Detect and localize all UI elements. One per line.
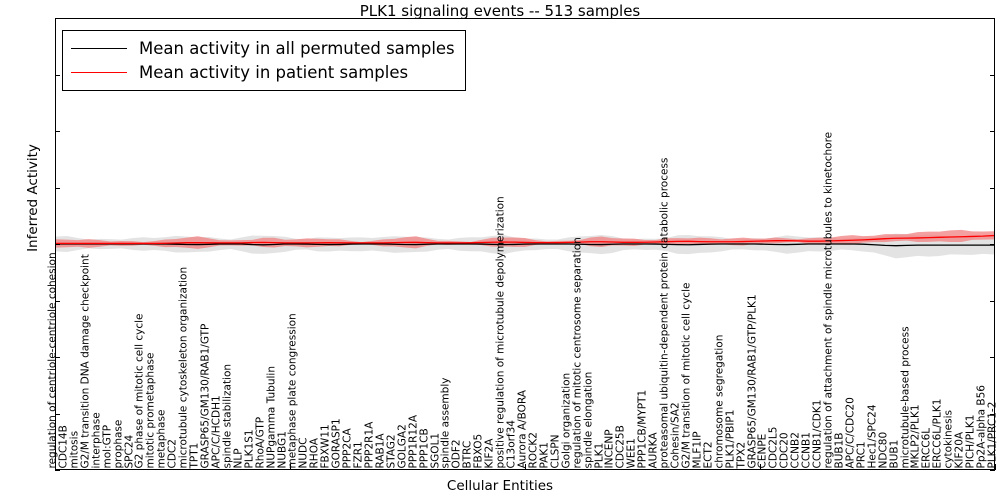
y-tick-mark xyxy=(990,244,995,245)
y-tick-mark xyxy=(55,414,60,415)
legend-swatch-red-line xyxy=(71,72,127,73)
y-tick-mark xyxy=(990,75,995,76)
y-tick-mark xyxy=(55,131,60,132)
y-tick-mark xyxy=(990,414,995,415)
y-tick-mark xyxy=(990,301,995,302)
x-tick-mark xyxy=(525,464,526,470)
y-tick-mark xyxy=(55,357,60,358)
y-tick-mark xyxy=(990,357,995,358)
x-tick-mark xyxy=(290,464,291,470)
y-tick-mark xyxy=(55,75,60,76)
chart-legend: Mean activity in all permuted samples Me… xyxy=(62,30,466,91)
figure-canvas: PLK1 signaling events -- 513 samples reg… xyxy=(0,0,1000,500)
y-tick-mark xyxy=(990,131,995,132)
legend-swatch-black-line xyxy=(71,48,127,49)
legend-item-patient: Mean activity in patient samples xyxy=(71,60,455,84)
legend-item-permuted: Mean activity in all permuted samples xyxy=(71,36,455,60)
y-tick-mark xyxy=(990,470,995,471)
legend-label-patient: Mean activity in patient samples xyxy=(139,63,408,82)
x-tick-mark xyxy=(55,464,56,470)
x-axis-label: Cellular Entities xyxy=(0,478,1000,494)
legend-label-permuted: Mean activity in all permuted samples xyxy=(139,39,455,58)
y-tick-mark xyxy=(55,470,60,471)
y-tick-mark xyxy=(55,18,60,19)
y-tick-mark xyxy=(990,18,995,19)
y-tick-mark xyxy=(55,188,60,189)
x-tick-mark xyxy=(760,464,761,470)
x-tick-mark xyxy=(995,464,996,470)
y-tick-mark xyxy=(990,188,995,189)
y-tick-mark xyxy=(55,244,60,245)
y-axis-label: Inferred Activity xyxy=(25,103,41,293)
y-tick-mark xyxy=(55,301,60,302)
